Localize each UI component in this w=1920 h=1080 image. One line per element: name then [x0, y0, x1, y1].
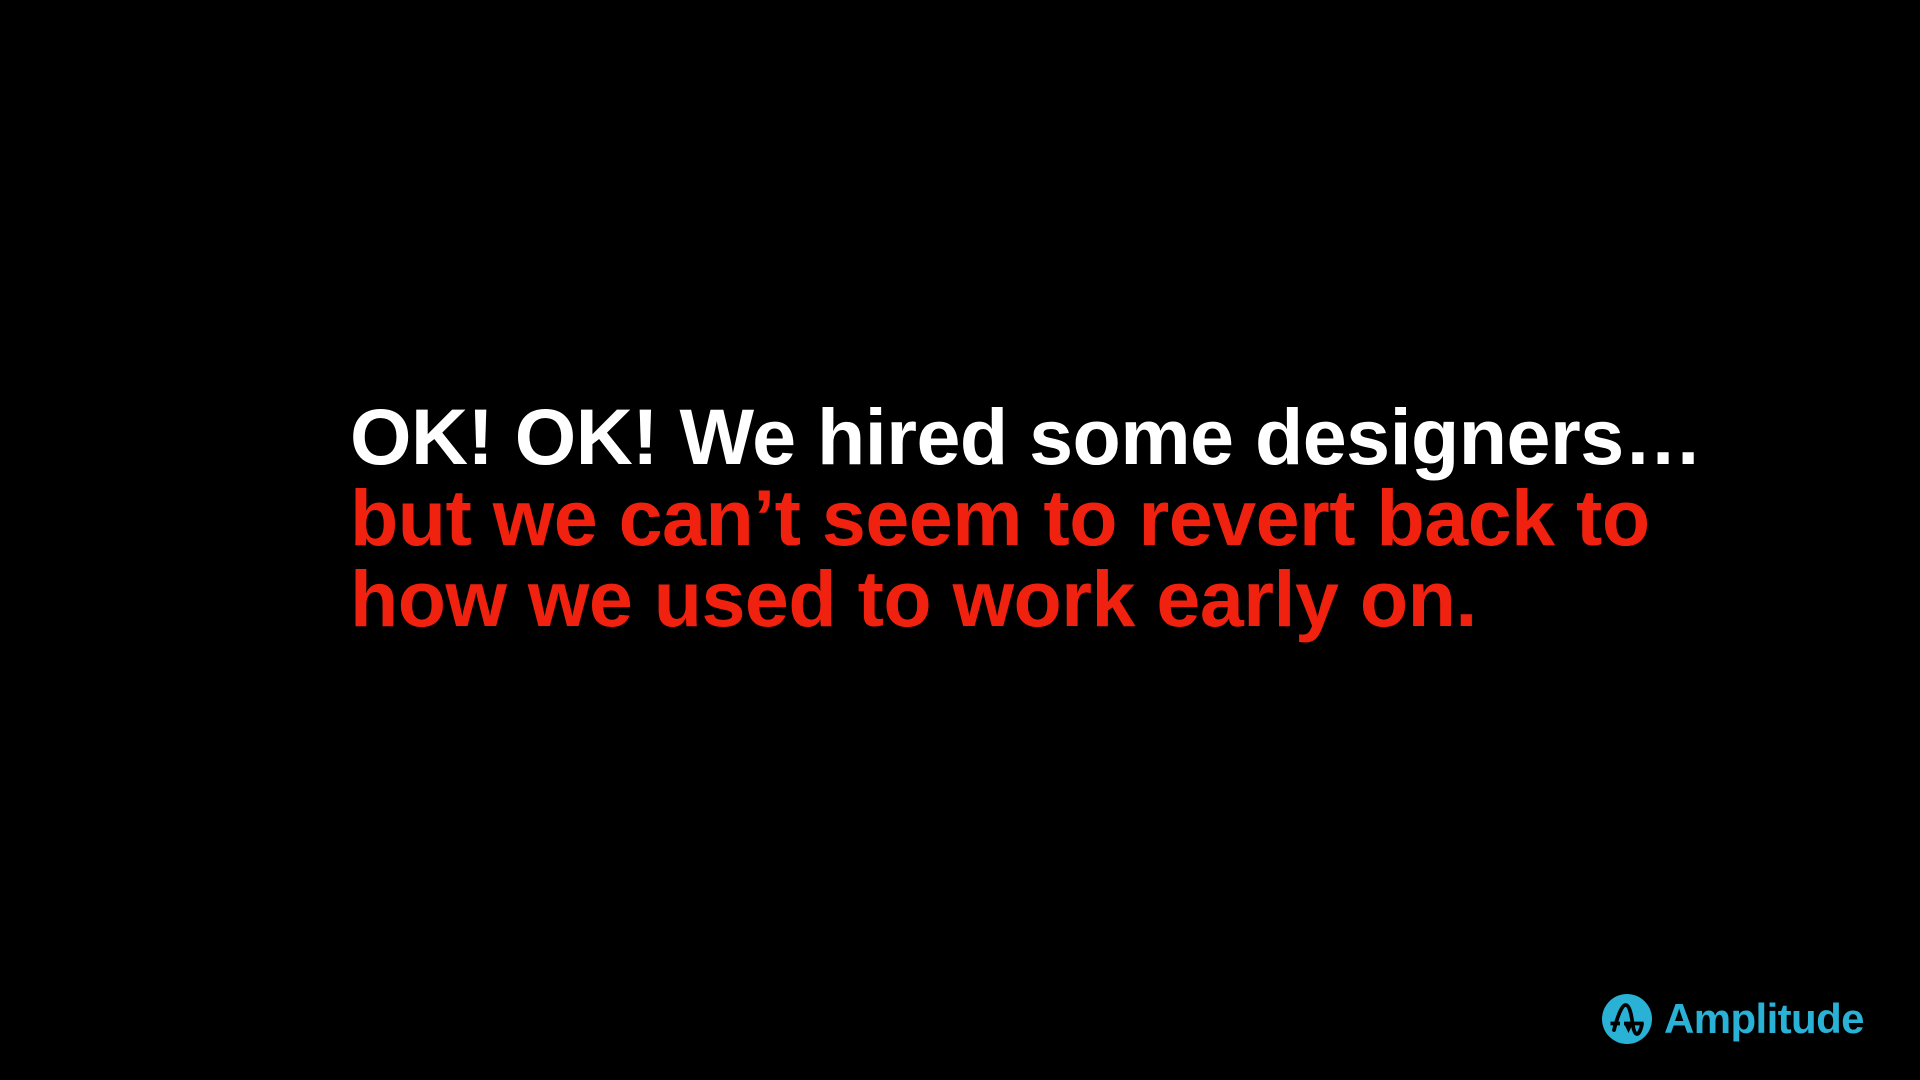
headline-block: OK! OK! We hired some designers… but we …	[350, 396, 1650, 639]
headline-line-1: OK! OK! We hired some designers…	[350, 396, 1650, 477]
amplitude-wave-a-icon	[1602, 994, 1652, 1044]
brand-logo: Amplitude	[1602, 990, 1864, 1048]
headline-line-2: but we can’t seem to revert back to	[350, 477, 1650, 558]
brand-wordmark: Amplitude	[1664, 997, 1864, 1041]
slide-canvas: OK! OK! We hired some designers… but we …	[0, 0, 1920, 1080]
headline-line-3: how we used to work early on.	[350, 558, 1650, 639]
